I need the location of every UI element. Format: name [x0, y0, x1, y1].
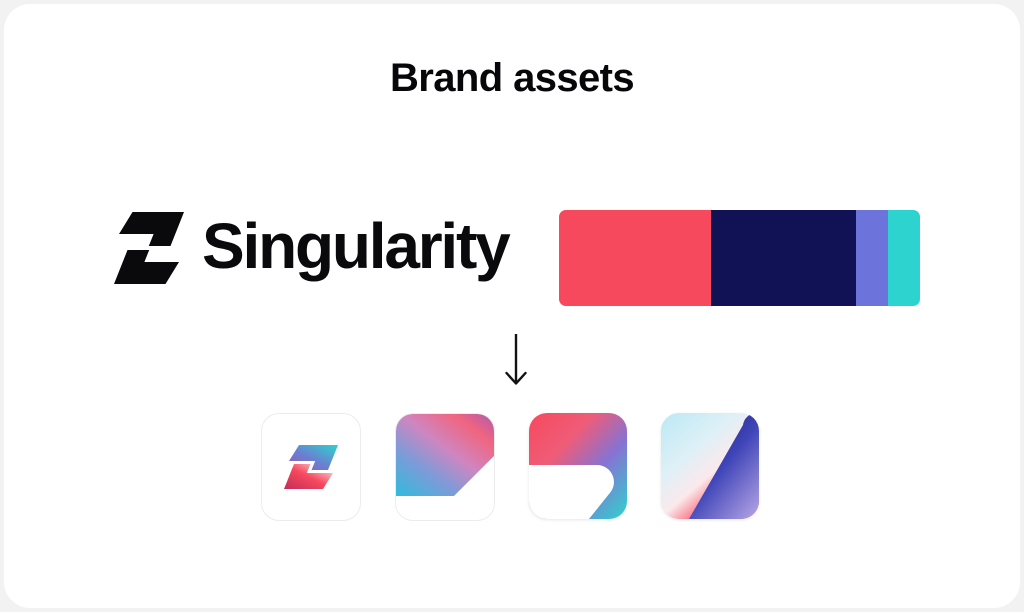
logo-lockup: Singularity [112, 210, 509, 286]
screenshot-root: Brand assets Singularity [0, 0, 1024, 612]
brand-color-palette [559, 210, 920, 306]
color-swatch-teal [888, 210, 920, 306]
singularity-bolt-mark-icon [112, 210, 186, 286]
singularity-wordmark: Singularity [202, 214, 509, 278]
color-swatch-deep-navy [711, 210, 856, 306]
arrow-down-icon [496, 332, 536, 388]
logo-variant-gradient-slab[interactable] [395, 413, 495, 521]
logo-variant-white-bolt[interactable] [261, 413, 361, 521]
logo-variant-gradient-notch[interactable] [529, 413, 627, 519]
logo-variant-tiles [261, 413, 759, 521]
logo-variant-gradient-slash[interactable] [661, 413, 759, 519]
color-swatch-periwinkle [856, 210, 888, 306]
color-swatch-coral-red [559, 210, 711, 306]
page-title: Brand assets [4, 56, 1020, 100]
brand-assets-card: Brand assets Singularity [4, 4, 1020, 608]
